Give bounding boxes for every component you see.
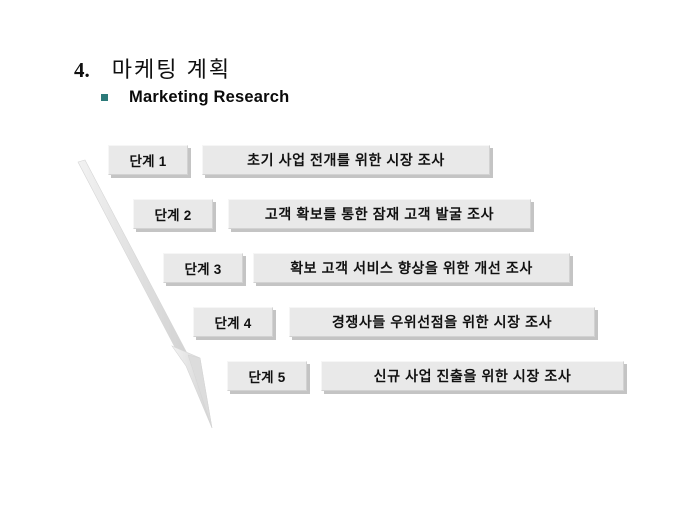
step-number-box[interactable]: 단계 4 [193,307,273,337]
step-row: 단계 2 고객 확보를 통한 잠재 고객 발굴 조사 [0,199,680,233]
title-number: 4. [74,58,90,83]
step-description-box[interactable]: 고객 확보를 통한 잠재 고객 발굴 조사 [228,199,531,229]
step-number-box[interactable]: 단계 1 [108,145,188,175]
step-row: 단계 3 확보 고객 서비스 향상을 위한 개선 조사 [0,253,680,287]
step-number-label: 단계 2 [155,204,192,224]
page-title: 4. 마케팅 계획 [74,52,231,84]
subtitle-text: Marketing Research [129,88,289,107]
step-number-box[interactable]: 단계 3 [163,253,243,283]
step-description-label: 신규 사업 진출을 위한 시장 조사 [374,366,572,386]
step-number-label: 단계 4 [215,312,252,332]
step-description-label: 초기 사업 전개를 위한 시장 조사 [247,150,445,170]
step-description-label: 경쟁사들 우위선점을 위한 시장 조사 [332,312,552,332]
step-description-box[interactable]: 신규 사업 진출을 위한 시장 조사 [321,361,624,391]
step-row: 단계 5 신규 사업 진출을 위한 시장 조사 [0,361,680,395]
step-description-box[interactable]: 확보 고객 서비스 향상을 위한 개선 조사 [253,253,570,283]
step-number-label: 단계 3 [185,258,222,278]
step-number-label: 단계 1 [130,150,167,170]
step-number-box[interactable]: 단계 5 [227,361,307,391]
subtitle-row: Marketing Research [101,88,289,107]
step-description-box[interactable]: 경쟁사들 우위선점을 위한 시장 조사 [289,307,595,337]
square-bullet-icon [101,94,108,101]
step-description-label: 고객 확보를 통한 잠재 고객 발굴 조사 [265,204,494,224]
step-row: 단계 1 초기 사업 전개를 위한 시장 조사 [0,145,680,179]
step-description-box[interactable]: 초기 사업 전개를 위한 시장 조사 [202,145,490,175]
title-text: 마케팅 계획 [112,52,231,84]
step-description-label: 확보 고객 서비스 향상을 위한 개선 조사 [290,258,533,278]
heading-block: 4. 마케팅 계획 Marketing Research [0,0,680,125]
diagonal-down-right-arrow-icon [60,150,230,440]
step-number-label: 단계 5 [249,366,286,386]
step-number-box[interactable]: 단계 2 [133,199,213,229]
slide-canvas: 4. 마케팅 계획 Marketing Research 단계 1 초기 사업 … [0,0,680,510]
step-row: 단계 4 경쟁사들 우위선점을 위한 시장 조사 [0,307,680,341]
